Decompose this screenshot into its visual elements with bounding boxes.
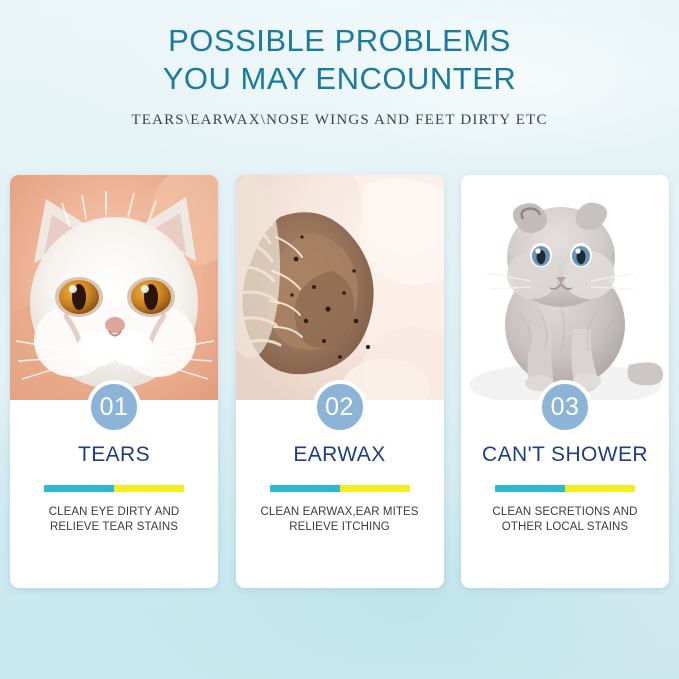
card-body: TEARS CLEAN EYE DIRTY AND RELIEVE TEAR S… [10,443,218,535]
page-subtitle: TEARS\EARWAX\NOSE WINGS AND FEET DIRTY E… [0,112,679,129]
card-description-line-1: CLEAN EARWAX,EAR MITES [260,506,418,518]
card-description-line-1: CLEAN EYE DIRTY AND [49,506,180,518]
headline-line-2: YOU MAY ENCOUNTER [0,60,679,98]
page-title: POSSIBLE PROBLEMS YOU MAY ENCOUNTER [0,22,679,98]
card-photo-kitten [461,175,669,400]
card-photo-tears [10,175,218,400]
dirty-ear-closeup-illustration [236,175,444,400]
card-description-line-1: CLEAN SECRETIONS AND [492,506,637,518]
card-number-badge: 03 [538,380,592,434]
card-title: EARWAX [236,443,444,467]
card-body: EARWAX CLEAN EARWAX,EAR MITES RELIEVE IT… [236,443,444,535]
card-description-line-2: RELIEVE ITCHING [246,520,434,535]
card-divider-rule [270,485,410,492]
promo-poster: POSSIBLE PROBLEMS YOU MAY ENCOUNTER TEAR… [0,0,679,679]
card-number-badge: 01 [87,380,141,434]
card-description: CLEAN SECRETIONS AND OTHER LOCAL STAINS [471,505,659,535]
problem-card-1[interactable]: 01 TEARS CLEAN EYE DIRTY AND RELIEVE TEA… [10,175,218,588]
card-description-line-2: RELIEVE TEAR STAINS [20,520,208,535]
card-description: CLEAN EARWAX,EAR MITES RELIEVE ITCHING [246,505,434,535]
card-body: CAN'T SHOWER CLEAN SECRETIONS AND OTHER … [461,443,669,535]
card-photo-earwax [236,175,444,400]
problem-card-3[interactable]: 03 CAN'T SHOWER CLEAN SECRETIONS AND OTH… [461,175,669,588]
card-divider-rule [44,485,184,492]
card-description-line-2: OTHER LOCAL STAINS [471,520,659,535]
card-divider-rule [495,485,635,492]
problem-card-2[interactable]: 02 EARWAX CLEAN EARWAX,EAR MITES RELIEVE… [236,175,444,588]
cat-face-illustration [10,175,218,400]
poster-header: POSSIBLE PROBLEMS YOU MAY ENCOUNTER TEAR… [0,22,679,129]
card-description: CLEAN EYE DIRTY AND RELIEVE TEAR STAINS [20,505,208,535]
scottish-fold-kitten-illustration [461,175,669,400]
headline-line-1: POSSIBLE PROBLEMS [168,23,511,58]
problem-card-list: 01 TEARS CLEAN EYE DIRTY AND RELIEVE TEA… [10,175,669,588]
card-number-badge: 02 [313,380,367,434]
card-title: TEARS [10,443,218,467]
card-title: CAN'T SHOWER [461,443,669,467]
